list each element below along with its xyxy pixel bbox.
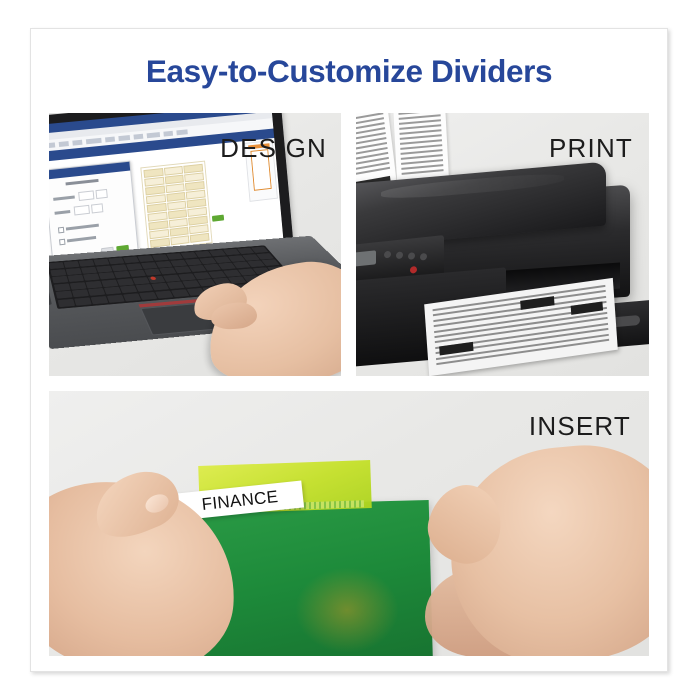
panel-label-insert: INSERT [529,411,631,442]
dialog-heading [65,179,98,186]
printer-power-button [410,266,417,274]
screen-divider-template-grid [140,161,212,252]
printer-lcd-display [356,250,376,267]
screen-primary-button [212,215,224,222]
label-strip-text: FINANCE [201,487,279,515]
panel-insert: FINANCE INSERT [49,391,649,656]
product-image-card: Easy-to-Customize Dividers [30,28,668,672]
fingers-through-plastic-shadow [295,567,399,653]
dialog-titlebar [49,162,130,180]
panel-print: PRINT [356,113,649,376]
panel-label-print: PRINT [549,133,633,164]
panel-label-design: DESIGN [220,133,327,164]
page-title: Easy-to-Customize Dividers [31,53,667,90]
panel-design: DESIGN [49,113,341,376]
